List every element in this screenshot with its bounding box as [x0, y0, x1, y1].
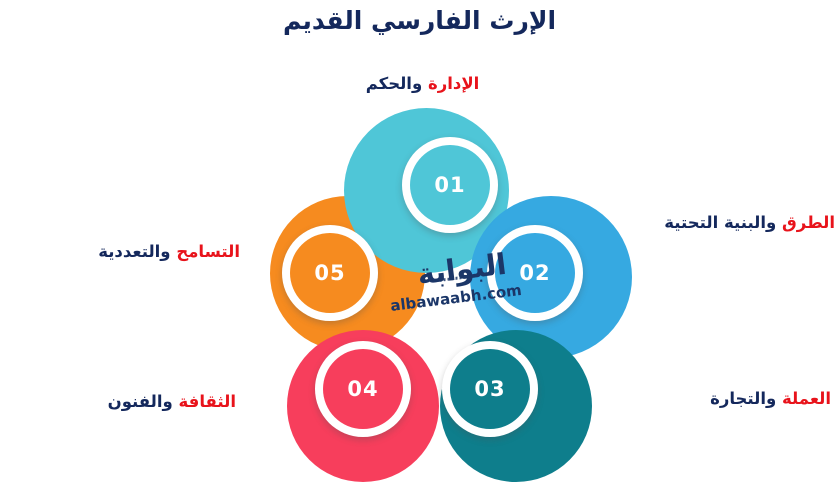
segment-label-02-highlight: الطرق: [782, 213, 835, 232]
watermark-dots-decoration: [439, 276, 465, 282]
segment-label-05-rest: والتعددية: [98, 242, 170, 261]
segment-number-01: 01: [434, 173, 465, 197]
segment-bubble-04[interactable]: 04: [315, 341, 411, 437]
segment-number-04-circle: 04: [323, 349, 403, 429]
segment-number-03: 03: [474, 377, 505, 401]
segment-number-03-circle: 03: [450, 349, 530, 429]
segment-bubble-05[interactable]: 05: [282, 225, 378, 321]
segment-label-03-rest: والتجارة: [710, 389, 776, 408]
segment-bubble-03[interactable]: 03: [442, 341, 538, 437]
segment-bubble-01[interactable]: 01: [402, 137, 498, 233]
segment-label-03: العملة والتجارة: [601, 389, 831, 409]
segment-number-05-circle: 05: [290, 233, 370, 313]
segment-number-05: 05: [314, 261, 345, 285]
segment-label-04: الثقافة والفنون: [6, 392, 236, 412]
segment-label-04-rest: والفنون: [108, 392, 173, 411]
segment-label-05-highlight: التسامح: [176, 242, 240, 261]
segment-number-04: 04: [347, 377, 378, 401]
segment-label-05: التسامح والتعددية: [10, 242, 240, 262]
segment-label-03-highlight: العملة: [782, 389, 831, 408]
segment-label-01-highlight: الإدارة: [428, 74, 479, 93]
segment-number-02: 02: [519, 261, 550, 285]
segment-number-02-circle: 02: [495, 233, 575, 313]
segment-label-02: الطرق والبنية التحتية: [605, 213, 835, 233]
five-segment-flower-diagram: 01 02 03 04 05 البوابة albawaabh.com الإ…: [0, 0, 839, 479]
segment-label-01-rest: والحكم: [366, 74, 423, 93]
segment-label-04-highlight: الثقافة: [179, 392, 236, 411]
segment-bubble-02[interactable]: 02: [487, 225, 583, 321]
segment-label-01: الإدارة والحكم: [330, 74, 515, 94]
segment-number-01-circle: 01: [410, 145, 490, 225]
segment-label-02-rest: والبنية التحتية: [664, 213, 776, 232]
